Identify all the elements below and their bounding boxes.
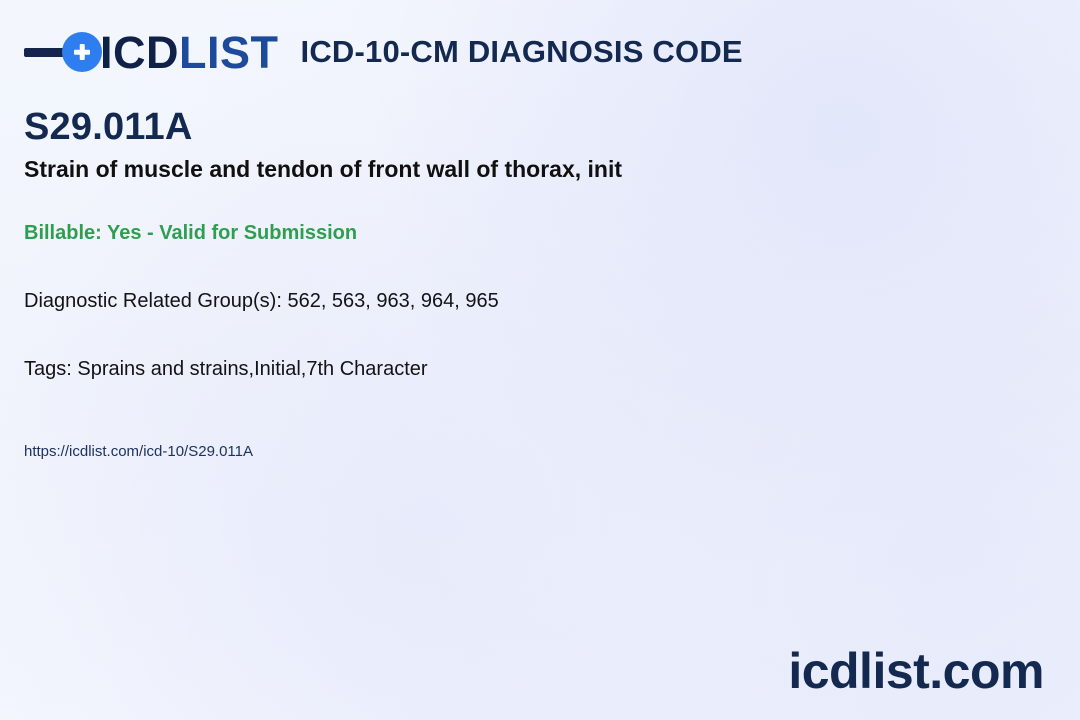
billable-status-badge: Billable: Yes - Valid for Submission [24, 221, 1044, 245]
diagnosis-code: S29.011A [24, 108, 1044, 148]
diagnosis-description: Strain of muscle and tendon of front wal… [24, 156, 1044, 184]
logo-word-icd: ICD [100, 27, 179, 78]
header: ICDLIST ICD-10-CM DIAGNOSIS CODE [24, 24, 743, 80]
source-url[interactable]: https://icdlist.com/icd-10/S29.011A [24, 443, 1044, 461]
page-title: ICD-10-CM DIAGNOSIS CODE [301, 34, 743, 70]
icd-code-card: ICDLIST ICD-10-CM DIAGNOSIS CODE S29.011… [0, 0, 1080, 720]
logo-wordmark: ICDLIST [100, 30, 279, 75]
icdlist-logo[interactable]: ICDLIST [24, 24, 279, 80]
footer-brand: icdlist.com [788, 646, 1044, 696]
plus-in-circle-icon [62, 32, 102, 72]
code-details: S29.011A Strain of muscle and tendon of … [24, 108, 1044, 461]
tags-list: Tags: Sprains and strains,Initial,7th Ch… [24, 357, 1044, 381]
diagnostic-related-groups: Diagnostic Related Group(s): 562, 563, 9… [24, 289, 1044, 313]
logo-word-list: LIST [179, 27, 279, 78]
